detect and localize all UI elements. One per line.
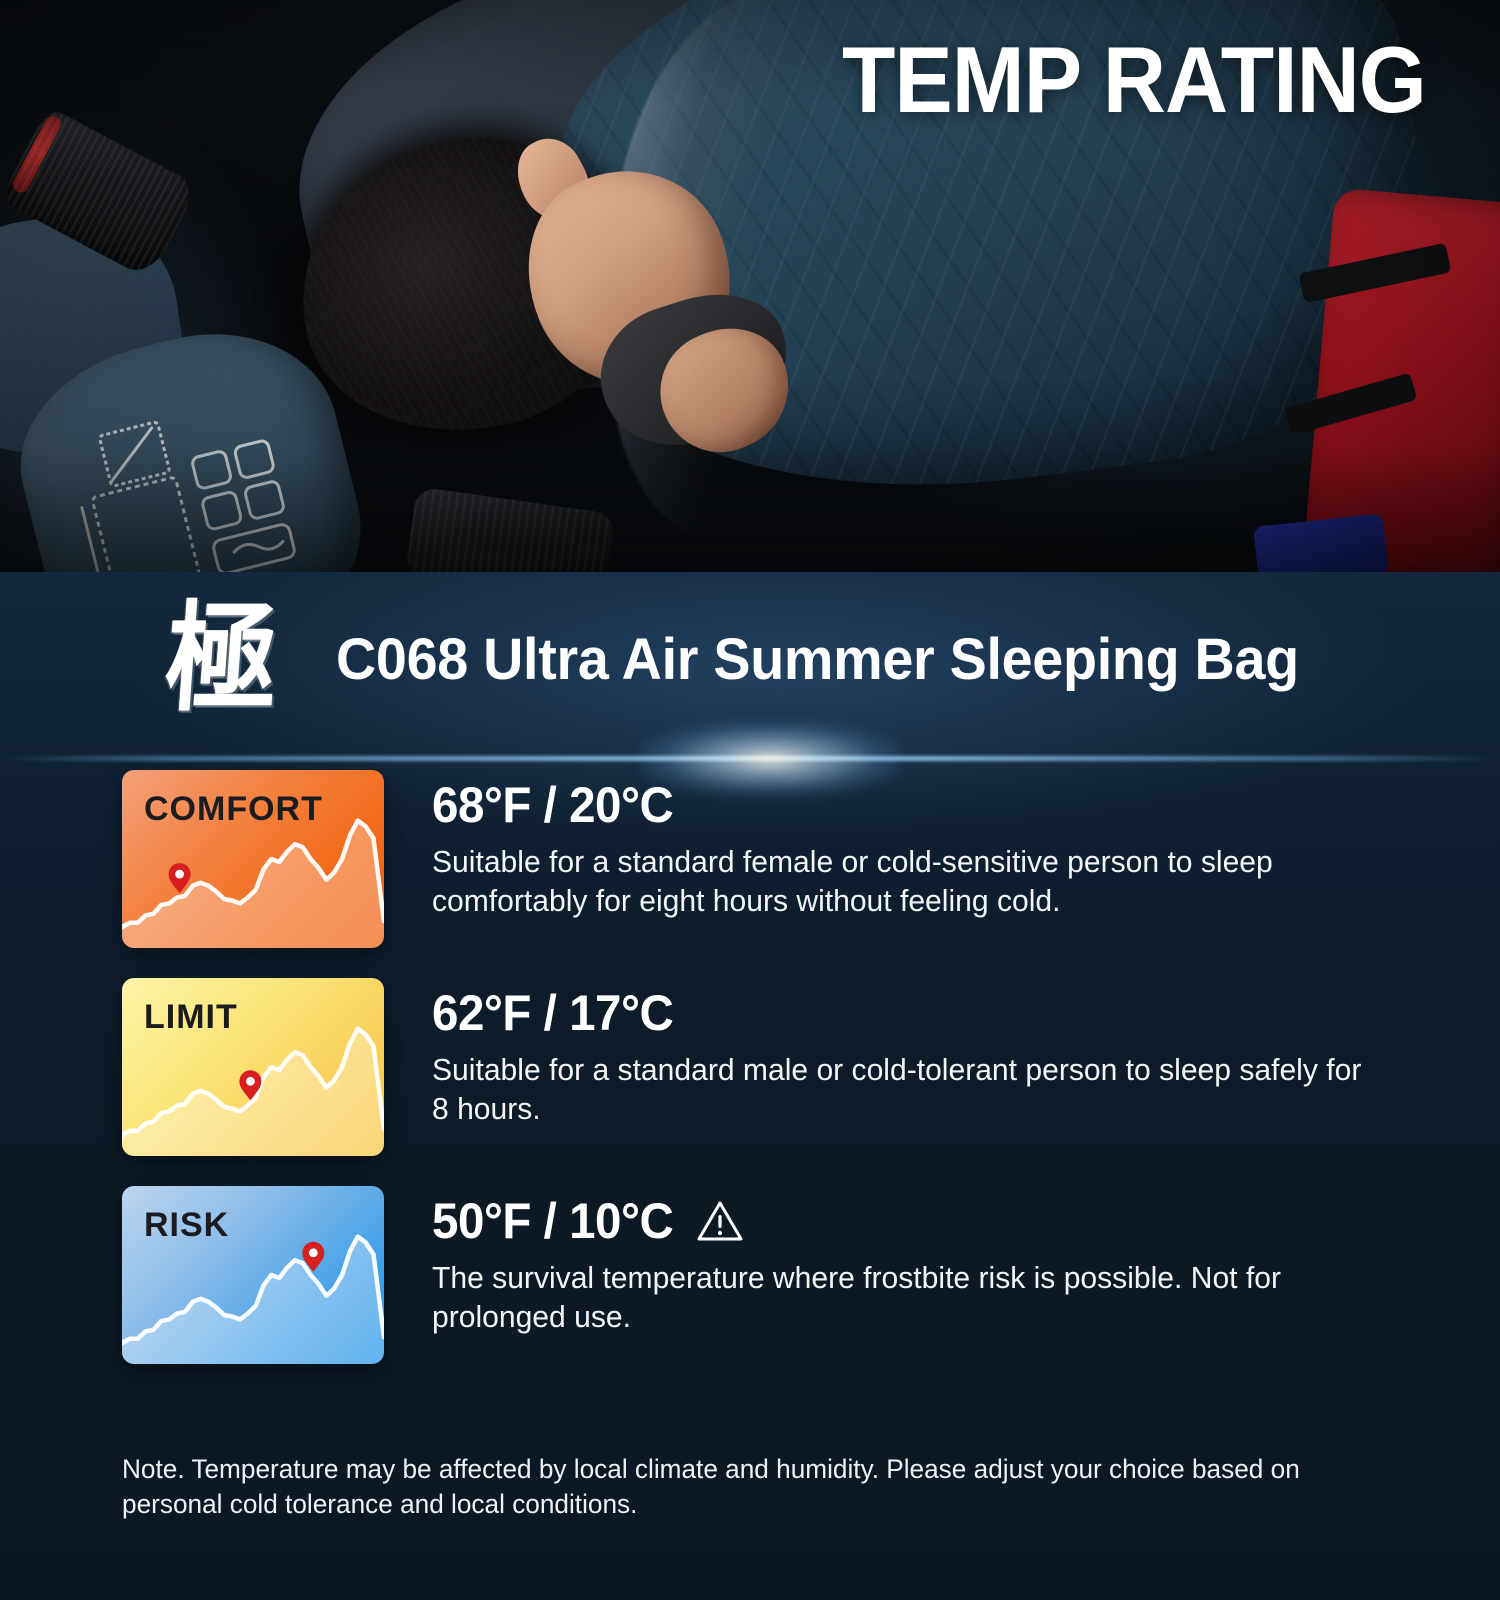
location-pin-icon xyxy=(169,863,191,893)
temperature-line: 62°F / 17°C xyxy=(432,984,1412,1042)
rating-row: COMFORT68°F / 20°CSuitable for a standar… xyxy=(0,770,1500,948)
page-title: TEMP RATING xyxy=(842,26,1426,134)
rating-text-block: 50°F / 10°CThe survival temperature wher… xyxy=(384,1186,1412,1336)
temperature-line: 50°F / 10°C xyxy=(432,1192,1412,1250)
flare-streak xyxy=(0,756,1500,761)
rating-text-block: 62°F / 17°CSuitable for a standard male … xyxy=(384,978,1412,1128)
rating-description: Suitable for a standard female or cold-s… xyxy=(432,842,1383,920)
rating-description: The survival temperature where frostbite… xyxy=(432,1258,1383,1336)
rating-rows: COMFORT68°F / 20°CSuitable for a standar… xyxy=(0,770,1500,1394)
temperature-value: 62°F / 17°C xyxy=(432,984,673,1042)
footer-note: Note. Temperature may be affected by loc… xyxy=(122,1452,1373,1522)
rating-card-limit: LIMIT xyxy=(122,978,384,1156)
rating-card-label: COMFORT xyxy=(144,790,323,829)
rating-card-label: LIMIT xyxy=(144,998,238,1037)
temp-rating-infographic: TEMP RATING 極 C068 Ultra Air Summer Slee… xyxy=(0,0,1500,1600)
kanji-logo: 極 xyxy=(162,600,283,719)
temperature-line: 68°F / 20°C xyxy=(432,776,1412,834)
product-name: C068 Ultra Air Summer Sleeping Bag xyxy=(336,626,1299,693)
hero-photo: TEMP RATING xyxy=(0,0,1500,572)
rating-description: Suitable for a standard male or cold-tol… xyxy=(432,1050,1383,1128)
temperature-value: 68°F / 20°C xyxy=(432,776,673,834)
rating-card-comfort: COMFORT xyxy=(122,770,384,948)
temperature-value: 50°F / 10°C xyxy=(432,1192,673,1250)
rating-card-risk: RISK xyxy=(122,1186,384,1364)
rating-row: LIMIT62°F / 17°CSuitable for a standard … xyxy=(0,978,1500,1156)
warning-triangle-icon xyxy=(696,1199,744,1243)
rating-panel: 極 C068 Ultra Air Summer Sleeping Bag COM… xyxy=(0,572,1500,1600)
rating-text-block: 68°F / 20°CSuitable for a standard femal… xyxy=(384,770,1412,920)
product-header: 極 C068 Ultra Air Summer Sleeping Bag xyxy=(0,594,1500,724)
rating-card-label: RISK xyxy=(144,1206,229,1245)
rating-row: RISK50°F / 10°CThe survival temperature … xyxy=(0,1186,1500,1364)
